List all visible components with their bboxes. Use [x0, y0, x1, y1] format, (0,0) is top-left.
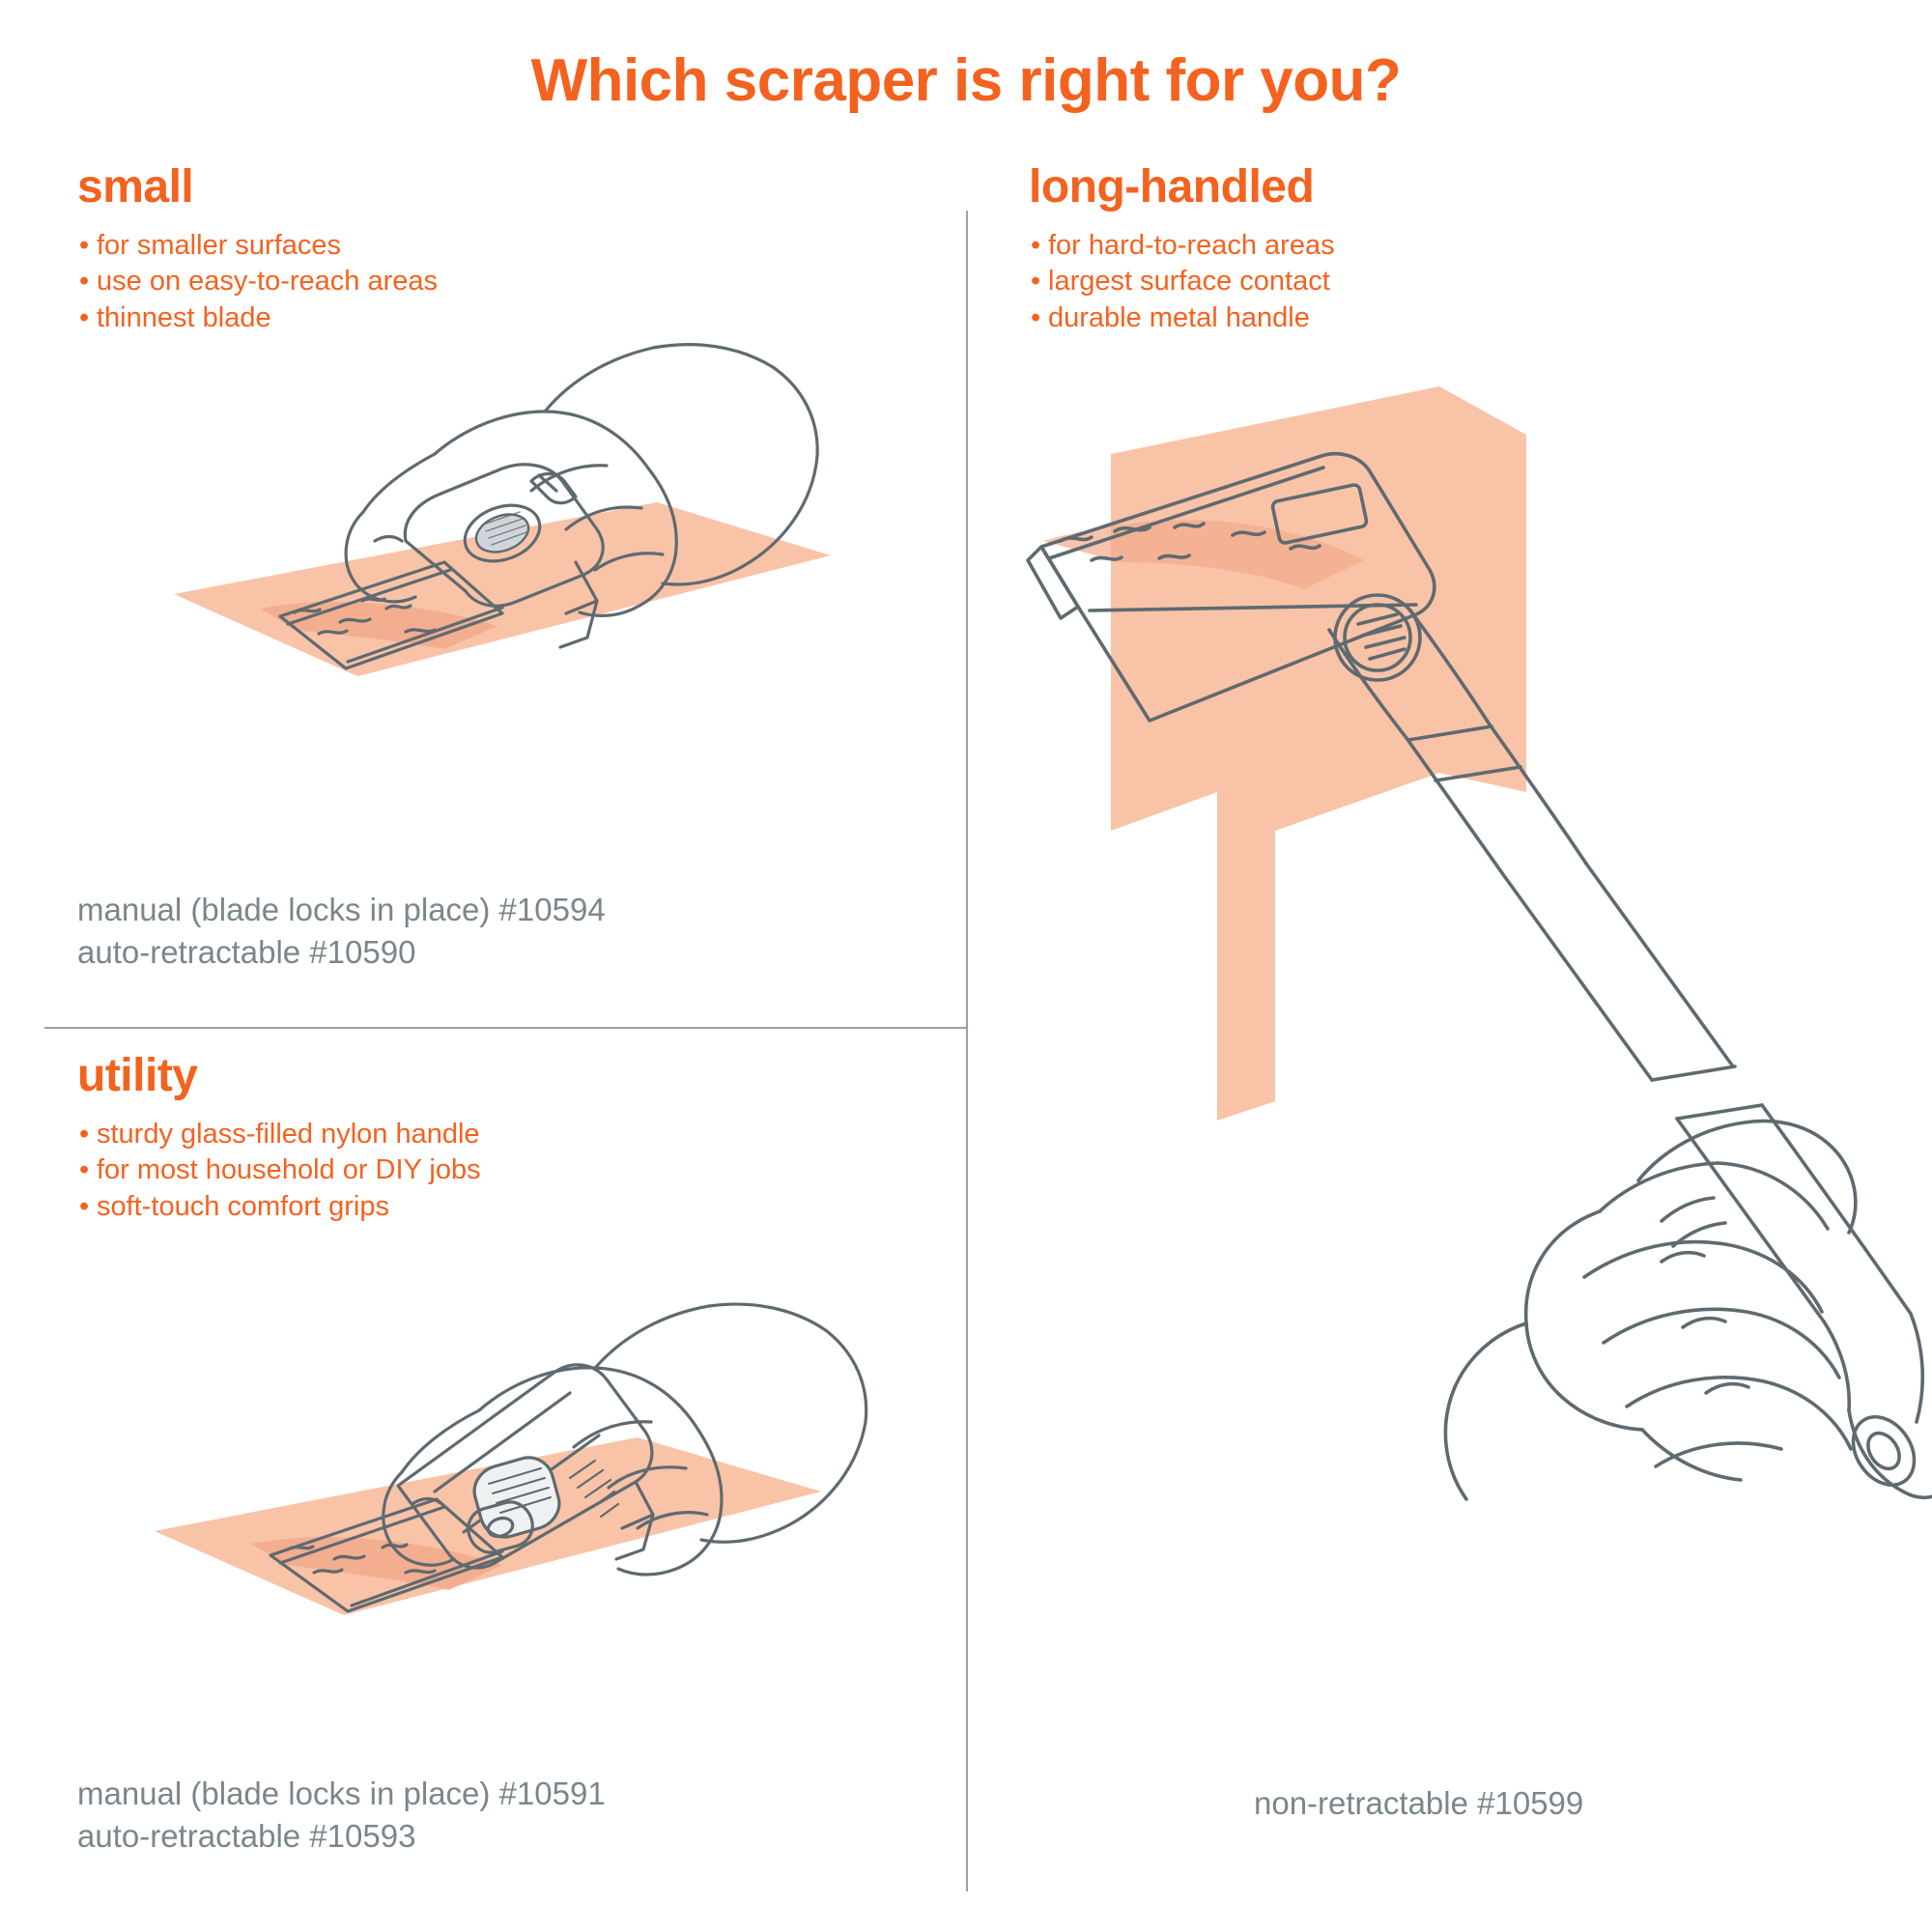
illustration-utility-scraper	[116, 1082, 947, 1758]
illustration-long-handled-scraper	[985, 251, 1932, 1758]
bullet-dot-icon: •	[79, 1189, 97, 1225]
bullet-dot-icon: •	[79, 300, 97, 336]
bullet-dot-icon: •	[79, 1117, 97, 1152]
illustration-small-scraper	[116, 222, 947, 898]
bullet-dot-icon: •	[79, 228, 97, 264]
page-title: Which scraper is right for you?	[0, 46, 1932, 115]
product-code-line: manual (blade locks in place) #10591	[77, 1773, 606, 1815]
product-code-line: auto-retractable #10590	[77, 931, 606, 974]
bullet-dot-icon: •	[79, 264, 97, 299]
infographic-page: Which scraper is right for you? small •f…	[0, 0, 1932, 1932]
panel-long-handled-product-codes: non-retractable #10599	[1254, 1782, 1583, 1825]
product-code-line: non-retractable #10599	[1254, 1782, 1583, 1825]
product-code-line: manual (blade locks in place) #10594	[77, 889, 606, 931]
panel-small-heading: small	[77, 164, 966, 211]
panel-long-handled-heading: long-handled	[1029, 164, 1932, 211]
panel-small-product-codes: manual (blade locks in place) #10594 aut…	[77, 889, 606, 974]
bullet-dot-icon: •	[79, 1152, 97, 1188]
product-code-line: auto-retractable #10593	[77, 1815, 606, 1858]
panel-utility-product-codes: manual (blade locks in place) #10591 aut…	[77, 1773, 606, 1858]
